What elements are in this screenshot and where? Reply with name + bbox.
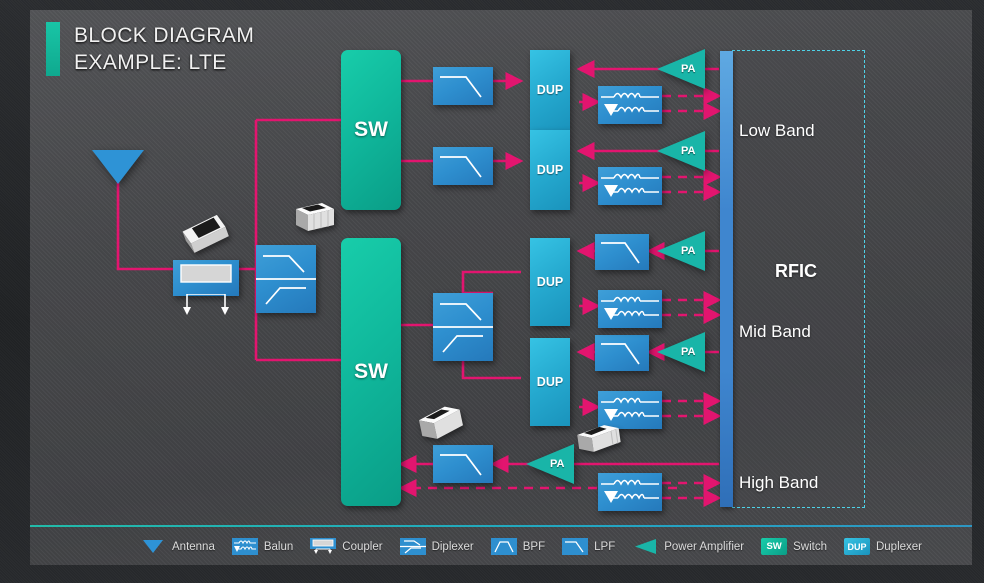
- lpf-low-2[interactable]: [433, 147, 493, 185]
- legend-label: Diplexer: [432, 541, 474, 553]
- power-amplifier-high[interactable]: PA: [526, 444, 574, 484]
- coupler-terminations: [173, 294, 239, 320]
- legend-label: Balun: [264, 541, 293, 553]
- legend-item-bpf: BPF: [491, 538, 545, 555]
- legend-label: LPF: [594, 541, 615, 553]
- rfic-band-high: High Band: [739, 473, 818, 493]
- rfic-band-mid: Mid Band: [739, 322, 811, 342]
- switch-label: SW: [354, 360, 388, 384]
- smd-component-mid-band: [412, 400, 468, 446]
- legend-label: Coupler: [342, 541, 382, 553]
- smd-component-diplexer: [288, 195, 340, 239]
- legend-item-balun: Balun: [232, 538, 293, 555]
- diagram-canvas: BLOCK DIAGRAM EXAMPLE: LTE: [30, 10, 972, 565]
- duplexer-low-2[interactable]: DUP: [530, 130, 570, 210]
- power-amplifier-icon: [632, 538, 658, 555]
- rfic-label: RFIC: [775, 261, 817, 282]
- legend-label: BPF: [523, 541, 545, 553]
- legend-label: Switch: [793, 541, 827, 553]
- duplexer-label: DUP: [537, 275, 563, 289]
- diagram-frame: BLOCK DIAGRAM EXAMPLE: LTE: [0, 0, 984, 583]
- smd-component-high-band: [572, 418, 626, 460]
- balun-mid-1[interactable]: [598, 290, 662, 328]
- power-amplifier-low-2[interactable]: PA: [657, 131, 705, 171]
- legend-label: Power Amplifier: [664, 541, 744, 553]
- antenna-icon: [140, 538, 166, 555]
- legend: Antenna Balun: [140, 538, 935, 555]
- balun-low-1[interactable]: [598, 86, 662, 124]
- duplexer-label: DUP: [537, 163, 563, 177]
- page-title: BLOCK DIAGRAM EXAMPLE: LTE: [74, 22, 254, 76]
- title-block: BLOCK DIAGRAM EXAMPLE: LTE: [46, 22, 254, 76]
- rfic-block[interactable]: Low Band RFIC Mid Band High Band: [732, 50, 865, 508]
- coupler-block[interactable]: [173, 260, 239, 296]
- bpf-mid-1[interactable]: [595, 234, 649, 270]
- legend-item-coupler: Coupler: [310, 538, 382, 555]
- coupler-icon: [310, 538, 336, 555]
- lpf-high[interactable]: [433, 445, 493, 483]
- balun-icon: [232, 538, 258, 555]
- legend-label: Duplexer: [876, 541, 922, 553]
- balun-high[interactable]: [598, 473, 662, 511]
- legend-item-antenna: Antenna: [140, 538, 215, 555]
- switch-icon: SW: [761, 538, 787, 555]
- legend-item-power-amplifier: Power Amplifier: [632, 538, 744, 555]
- rfic-band-low: Low Band: [739, 121, 815, 141]
- switch-low-band[interactable]: SW: [341, 50, 401, 210]
- legend-item-diplexer: Diplexer: [400, 538, 474, 555]
- legend-item-lpf: LPF: [562, 538, 615, 555]
- bpf-icon: [491, 538, 517, 555]
- diplexer-mid-block[interactable]: [433, 293, 493, 361]
- legend-item-switch: SW Switch: [761, 538, 827, 555]
- title-accent-bar: [46, 22, 60, 76]
- lpf-icon: [562, 538, 588, 555]
- rfic-io-bar: [720, 51, 733, 507]
- switch-mid-high-band[interactable]: SW: [341, 238, 401, 506]
- duplexer-icon: DUP: [844, 538, 870, 555]
- legend-label: Antenna: [172, 541, 215, 553]
- diplexer-main-block[interactable]: [256, 245, 316, 313]
- duplexer-label: DUP: [537, 83, 563, 97]
- power-amplifier-low-1[interactable]: PA: [657, 49, 705, 89]
- smd-component-antenna: [178, 210, 232, 254]
- duplexer-mid-2[interactable]: DUP: [530, 338, 570, 426]
- duplexer-label: DUP: [537, 375, 563, 389]
- switch-label: SW: [354, 118, 388, 142]
- diplexer-icon: [400, 538, 426, 555]
- duplexer-mid-1[interactable]: DUP: [530, 238, 570, 326]
- legend-item-duplexer: DUP Duplexer: [844, 538, 922, 555]
- antenna-icon: [92, 150, 144, 188]
- bpf-mid-2[interactable]: [595, 335, 649, 371]
- balun-low-2[interactable]: [598, 167, 662, 205]
- power-amplifier-mid-1[interactable]: PA: [657, 231, 705, 271]
- lpf-low-1[interactable]: [433, 67, 493, 105]
- power-amplifier-mid-2[interactable]: PA: [657, 332, 705, 372]
- duplexer-low-1[interactable]: DUP: [530, 50, 570, 130]
